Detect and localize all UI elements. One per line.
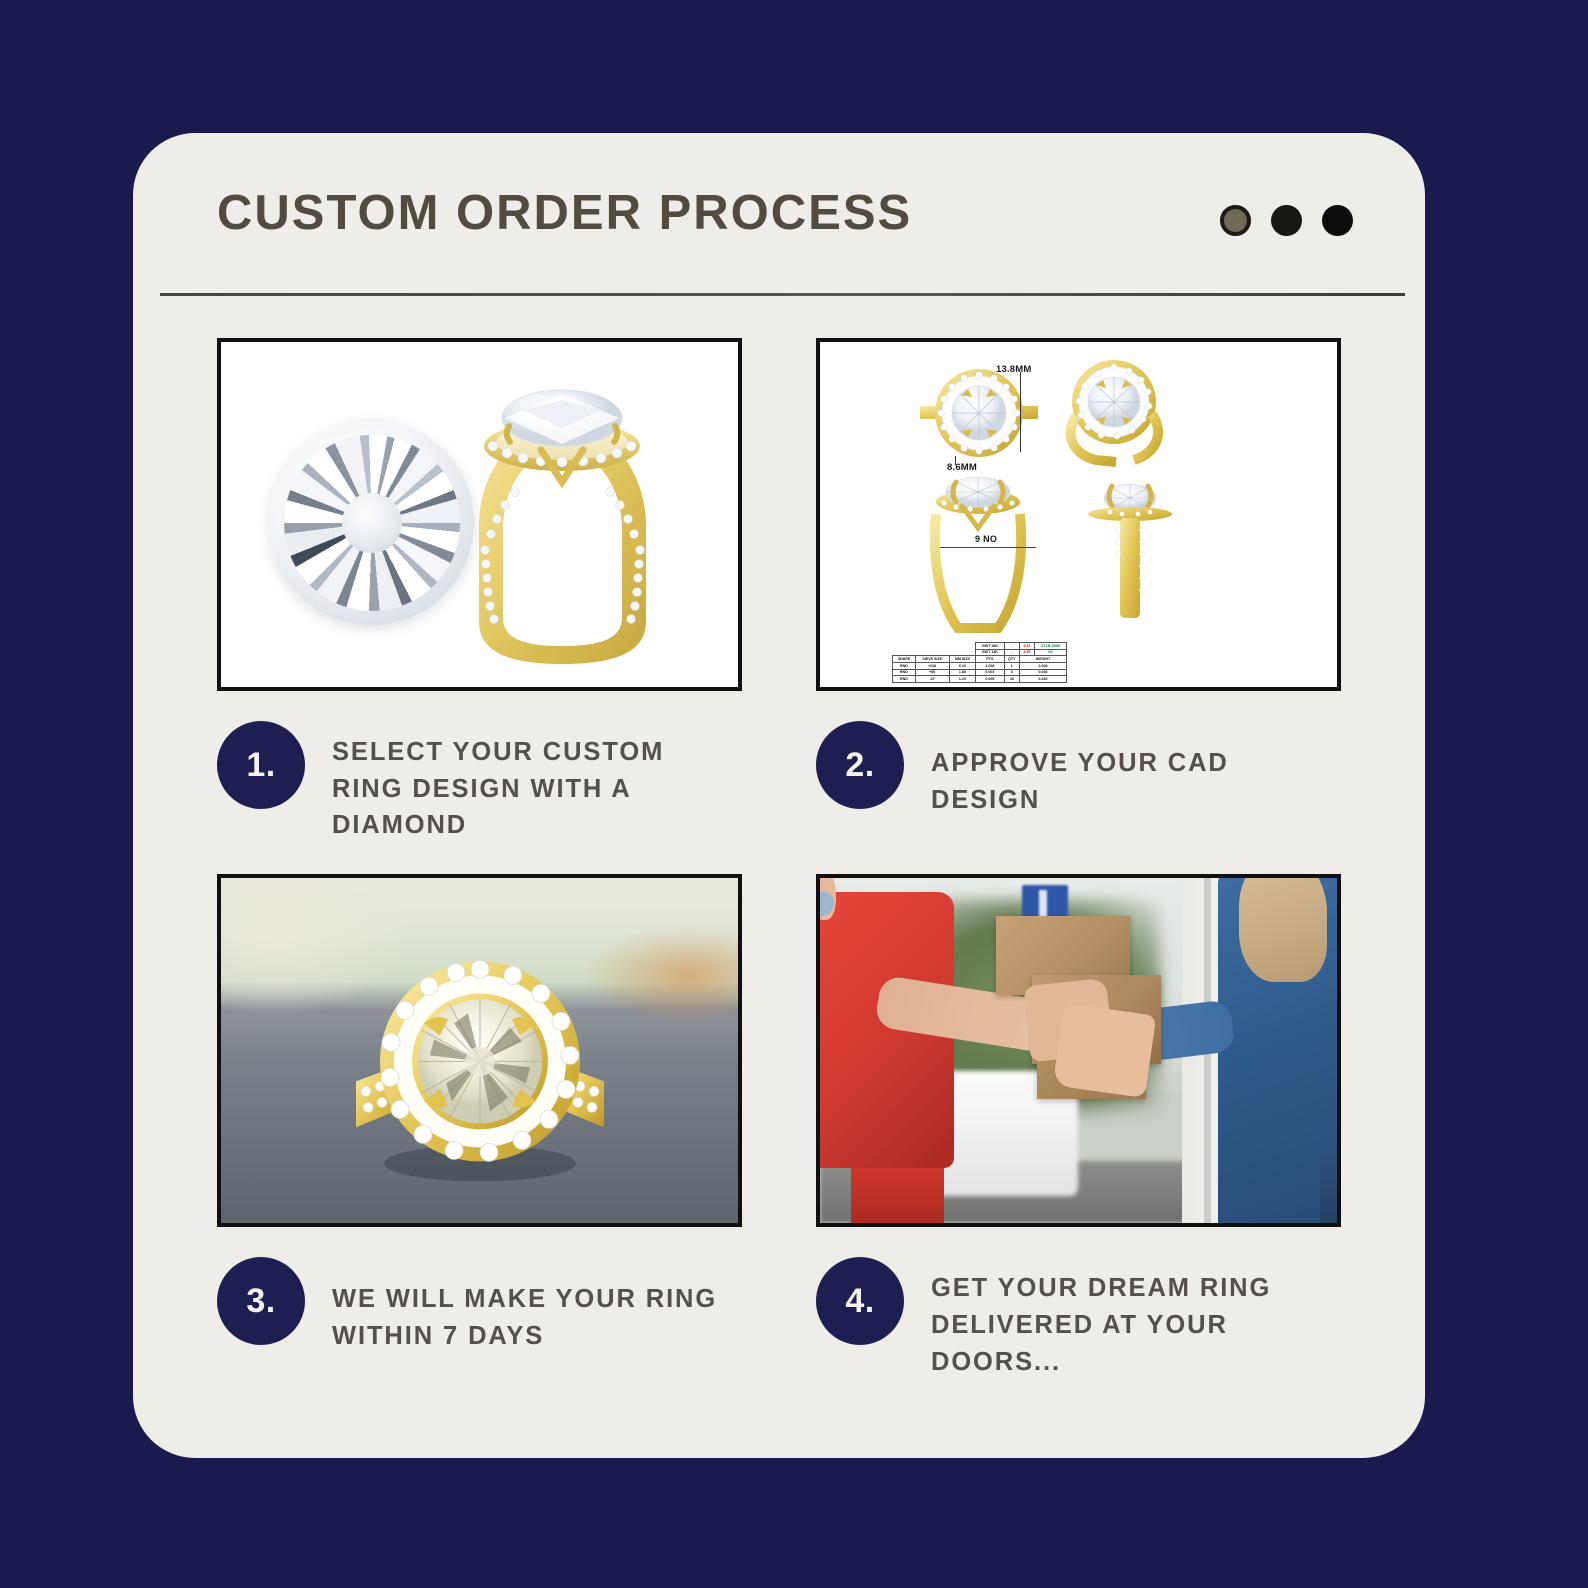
step-2-caption: 2. APPROVE YOUR CAD DESIGN — [816, 721, 1341, 818]
window-dot-dark-2-icon[interactable] — [1322, 205, 1353, 236]
cad-col-sieve-size: SIEVE SIZE — [915, 656, 949, 663]
step-4-badge: 4. — [816, 1257, 904, 1345]
cad-cell-weight: 0.240 — [1019, 676, 1066, 683]
cad-cell-weight: 0.030 — [1019, 669, 1066, 676]
cad-cell-shape: RND — [893, 662, 916, 669]
step-card-1[interactable]: 1. SELECT YOUR CUSTOM RING DESIGN WITH A… — [217, 338, 742, 844]
cad-table-row: RND -07 1.10 0.005 48 0.240 — [893, 676, 1067, 683]
cad-front-view — [912, 470, 1044, 642]
cad-cell-sieve: +80 — [915, 669, 949, 676]
cad-cell-qty: 3 — [1004, 669, 1019, 676]
cad-cell-pts: 0.003 — [976, 669, 1004, 676]
step-2-badge: 2. — [816, 721, 904, 809]
cad-col-mm-size: MM SIZE — [949, 656, 976, 663]
cad-ringsize-line — [940, 547, 1036, 548]
cad-cell-mm: 1.80 — [949, 669, 976, 676]
cad-table-row: RND +80 1.80 0.003 3 0.030 — [893, 669, 1067, 676]
steps-grid: 1. SELECT YOUR CUSTOM RING DESIGN WITH A… — [133, 338, 1425, 1380]
cad-sheet: 13.8MM 8.6MM 9 NO GWT 18K - 4.93 STLR-00… — [820, 342, 1337, 687]
cad-col-weight: WEIGHT — [1019, 656, 1066, 663]
cad-cell-weight: 2.008 — [1019, 662, 1066, 669]
page-title: CUSTOM ORDER PROCESS — [217, 185, 912, 241]
step-1-label: SELECT YOUR CUSTOM RING DESIGN WITH A DI… — [332, 721, 742, 844]
step-4-label: GET YOUR DREAM RING DELIVERED AT YOUR DO… — [931, 1257, 1341, 1380]
cad-spec-gwt18k-value: 4.93 — [1019, 642, 1034, 649]
step-4-image — [816, 874, 1341, 1227]
step-3-badge: 3. — [217, 1257, 305, 1345]
cad-cell-pts: 1.008 — [976, 662, 1004, 669]
cad-spec-table: GWT 18K - 4.93 STLR-0098 GWT 14K - 4.99 … — [892, 642, 1067, 683]
cad-spec-gwt14k-label: GWT 14K — [976, 649, 1004, 656]
step-2-label: APPROVE YOUR CAD DESIGN — [931, 721, 1341, 818]
cad-cell-pts: 0.005 — [976, 676, 1004, 683]
cad-dimension-line-vertical — [1020, 372, 1021, 452]
cad-side-view — [1078, 468, 1182, 632]
step-card-2[interactable]: 13.8MM 8.6MM 9 NO GWT 18K - 4.93 STLR-00… — [816, 338, 1341, 844]
cad-spec-gwt14k-dash: - — [1004, 649, 1019, 656]
step-3-image — [217, 874, 742, 1227]
window-dots — [1220, 205, 1353, 236]
cad-dimension-mid: 8.6MM — [947, 462, 977, 473]
cad-cell-sieve: +DIA — [915, 662, 949, 669]
finished-ring-photo-illustration — [350, 931, 610, 1191]
cad-table-row: RND +DIA 6.10 1.008 1 2.008 — [893, 662, 1067, 669]
card-header: CUSTOM ORDER PROCESS — [133, 133, 1425, 295]
step-3-label: WE WILL MAKE YOUR RING WITHIN 7 DAYS — [332, 1257, 742, 1354]
step-1-badge: 1. — [217, 721, 305, 809]
step-1-image — [217, 338, 742, 691]
ring-profile-illustration — [445, 378, 680, 668]
photo-customer-hair — [1239, 874, 1327, 982]
cad-cell-qty: 48 — [1004, 676, 1019, 683]
cad-spec-gwt18k-dash: - — [1004, 642, 1019, 649]
cad-style-code: STLR-0098 — [1034, 642, 1066, 649]
cad-cell-sieve: -07 — [915, 676, 949, 683]
photo-customer-hand — [1053, 1003, 1157, 1098]
step-2-image: 13.8MM 8.6MM 9 NO GWT 18K - 4.93 STLR-00… — [816, 338, 1341, 691]
cad-cell-mm: 6.10 — [949, 662, 976, 669]
cad-cell-qty: 1 — [1004, 662, 1019, 669]
step-3-caption: 3. WE WILL MAKE YOUR RING WITHIN 7 DAYS — [217, 1257, 742, 1354]
infographic-card: CUSTOM ORDER PROCESS — [133, 133, 1425, 1458]
step-4-caption: 4. GET YOUR DREAM RING DELIVERED AT YOUR… — [816, 1257, 1341, 1380]
cad-cell-mm: 1.10 — [949, 676, 976, 683]
step-1-caption: 1. SELECT YOUR CUSTOM RING DESIGN WITH A… — [217, 721, 742, 844]
window-dot-olive-icon[interactable] — [1220, 205, 1251, 236]
cad-col-pts: PTS — [976, 656, 1004, 663]
cad-col-shape: SHAPE — [893, 656, 916, 663]
cad-spec-gwt18k-label: GWT 18K — [976, 642, 1004, 649]
header-divider — [160, 293, 1405, 296]
step-card-4[interactable]: 4. GET YOUR DREAM RING DELIVERED AT YOUR… — [816, 874, 1341, 1380]
cad-ring-size: 9 NO — [975, 534, 997, 544]
cad-cell-shape: RND — [893, 669, 916, 676]
cad-style-initials: VK — [1034, 649, 1066, 656]
photo-customer-jeans — [1320, 1155, 1341, 1227]
cad-perspective-view — [1058, 354, 1176, 472]
cad-cell-shape: RND — [893, 676, 916, 683]
cad-col-qty: QTY — [1004, 656, 1019, 663]
loose-diamond-icon — [269, 420, 474, 625]
cad-spec-gwt14k-value: 4.99 — [1019, 649, 1034, 656]
step-card-3[interactable]: 3. WE WILL MAKE YOUR RING WITHIN 7 DAYS — [217, 874, 742, 1380]
window-dot-dark-1-icon[interactable] — [1271, 205, 1302, 236]
cad-dimension-top: 13.8MM — [996, 364, 1032, 375]
